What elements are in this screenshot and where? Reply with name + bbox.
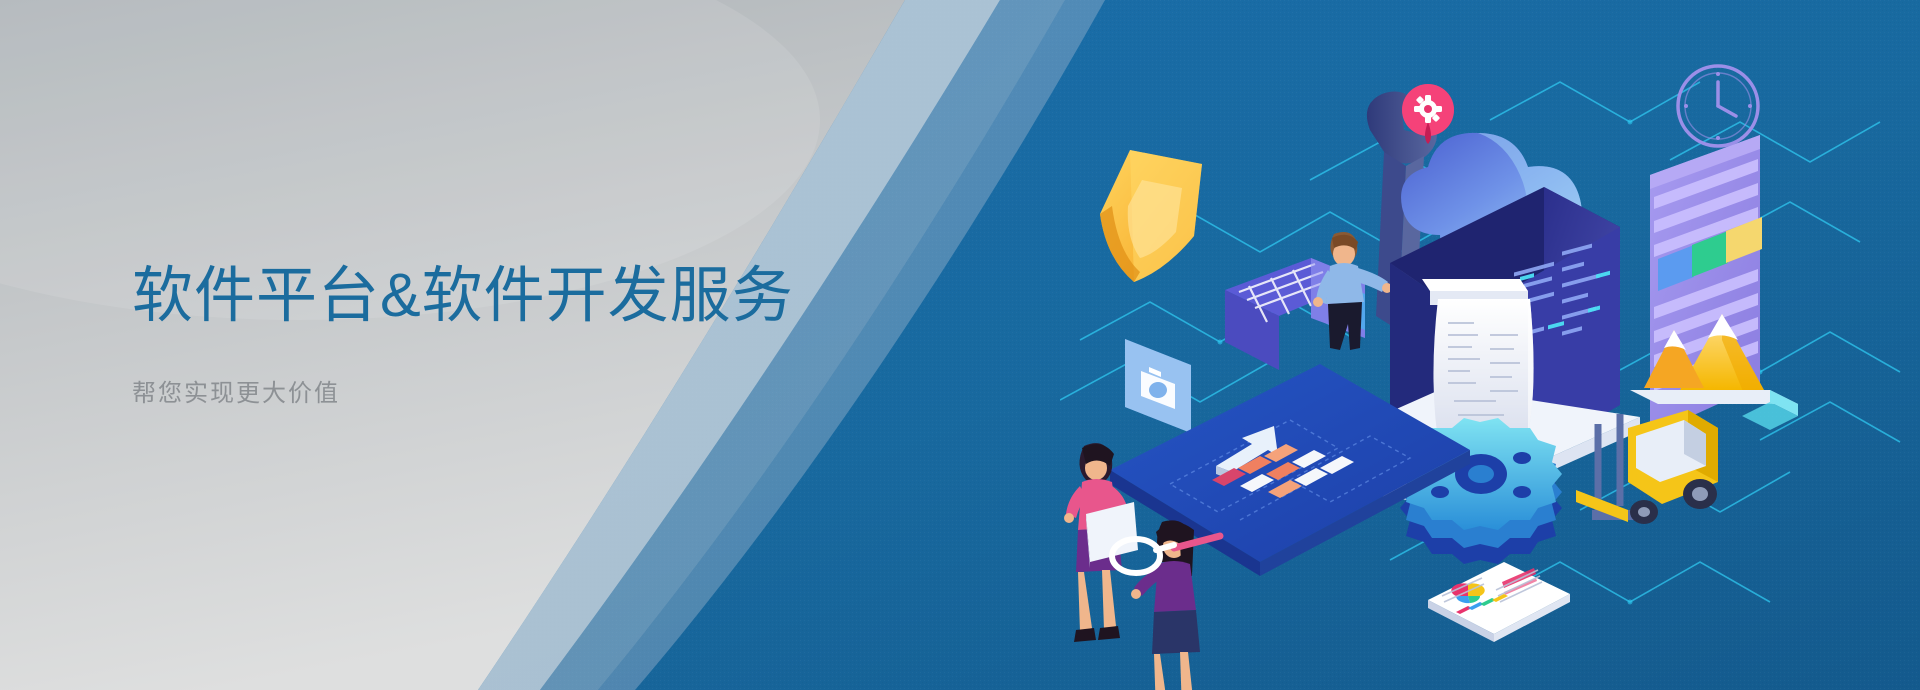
- hero-illustration: [1060, 40, 1920, 690]
- hero-banner: 软件平台&软件开发服务 帮您实现更大价值: [0, 0, 1920, 690]
- banner-text-block: 软件平台&软件开发服务 帮您实现更大价值: [132, 262, 794, 408]
- page-title: 软件平台&软件开发服务: [132, 262, 794, 329]
- page-subtitle: 帮您实现更大价值: [132, 373, 794, 408]
- camera-icon: [1125, 339, 1191, 433]
- shield-icon: [1100, 150, 1202, 282]
- news-document: [1428, 562, 1570, 642]
- forklift-icon: [1576, 410, 1718, 524]
